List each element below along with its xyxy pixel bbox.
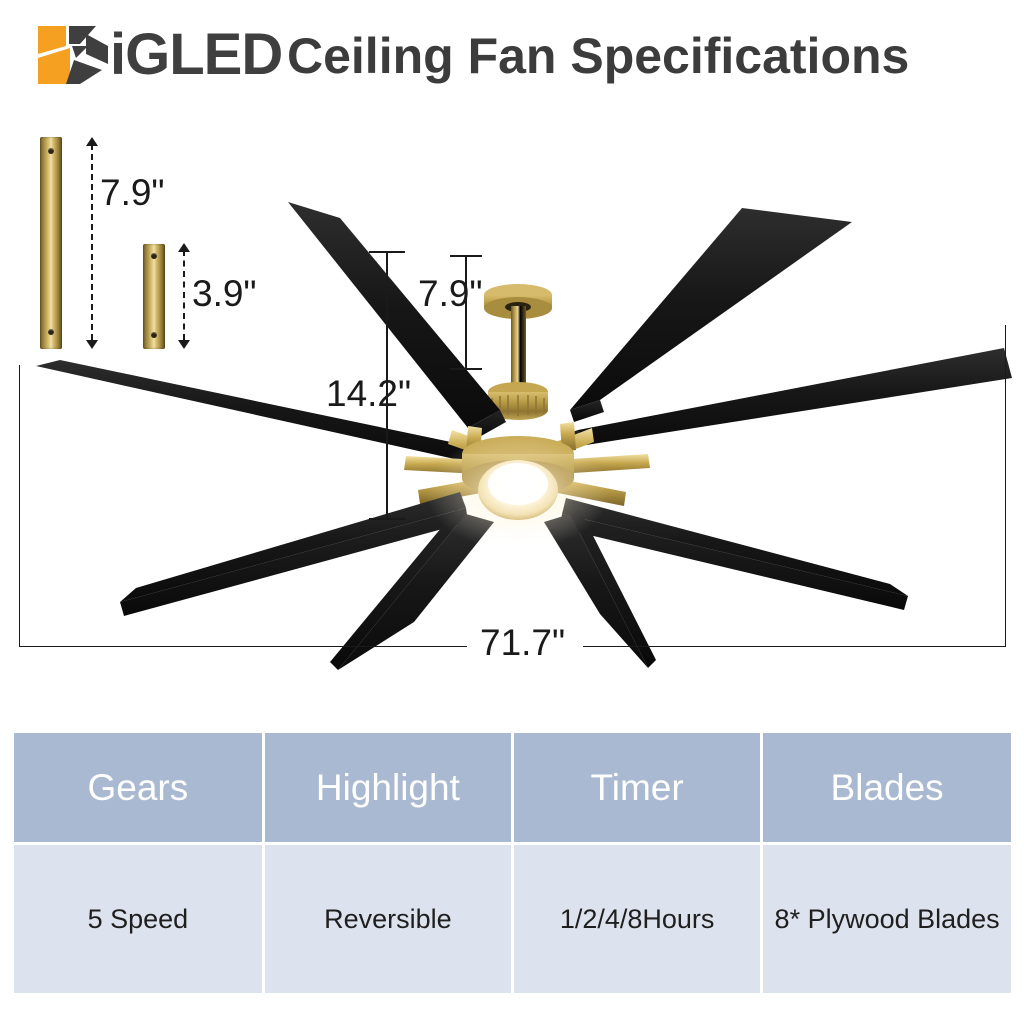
led-light — [478, 460, 558, 520]
specifications-table: Gears Highlight Timer Blades 5 Speed Rev… — [14, 733, 1011, 993]
table-header-blades: Blades — [762, 733, 1011, 844]
page-title: Ceiling Fan Specifications — [287, 25, 909, 87]
blade-span-dim-line-left — [19, 646, 467, 647]
table-cell-blades: 8* Plywood Blades — [762, 844, 1011, 994]
table-header-row: Gears Highlight Timer Blades — [14, 733, 1011, 844]
table-header-timer: Timer — [513, 733, 762, 844]
brand-wordmark: iGLED — [110, 24, 282, 86]
ceiling-fan-illustration — [0, 110, 1024, 710]
fan-downrod-dim-tick-bottom — [450, 368, 482, 370]
table-cell-timer: 1/2/4/8Hours — [513, 844, 762, 994]
page-header: iGLED Ceiling Fan Specifications — [0, 0, 1024, 110]
fan-downrod — [511, 306, 526, 392]
blade-span-ext-line-left — [19, 365, 20, 647]
ceiling-fan-dimension-diagram: 7.9" 3.9" — [0, 110, 1024, 710]
fan-height-dim-tick-bottom — [369, 518, 405, 520]
blade-span-dim-label: 71.7" — [480, 622, 565, 664]
blade-span-dim-line-right — [583, 646, 1006, 647]
table-cell-gears: 5 Speed — [14, 844, 263, 994]
fan-height-dim-label: 14.2" — [326, 373, 411, 415]
aperture-logo-icon — [36, 24, 110, 86]
blade-span-ext-line-right — [1005, 325, 1006, 647]
table-cell-highlight: Reversible — [263, 844, 512, 994]
table-row: 5 Speed Reversible 1/2/4/8Hours 8* Plywo… — [14, 844, 1011, 994]
table-header-gears: Gears — [14, 733, 263, 844]
fan-downrod-dim-label: 7.9" — [418, 273, 483, 315]
table-header-highlight: Highlight — [263, 733, 512, 844]
